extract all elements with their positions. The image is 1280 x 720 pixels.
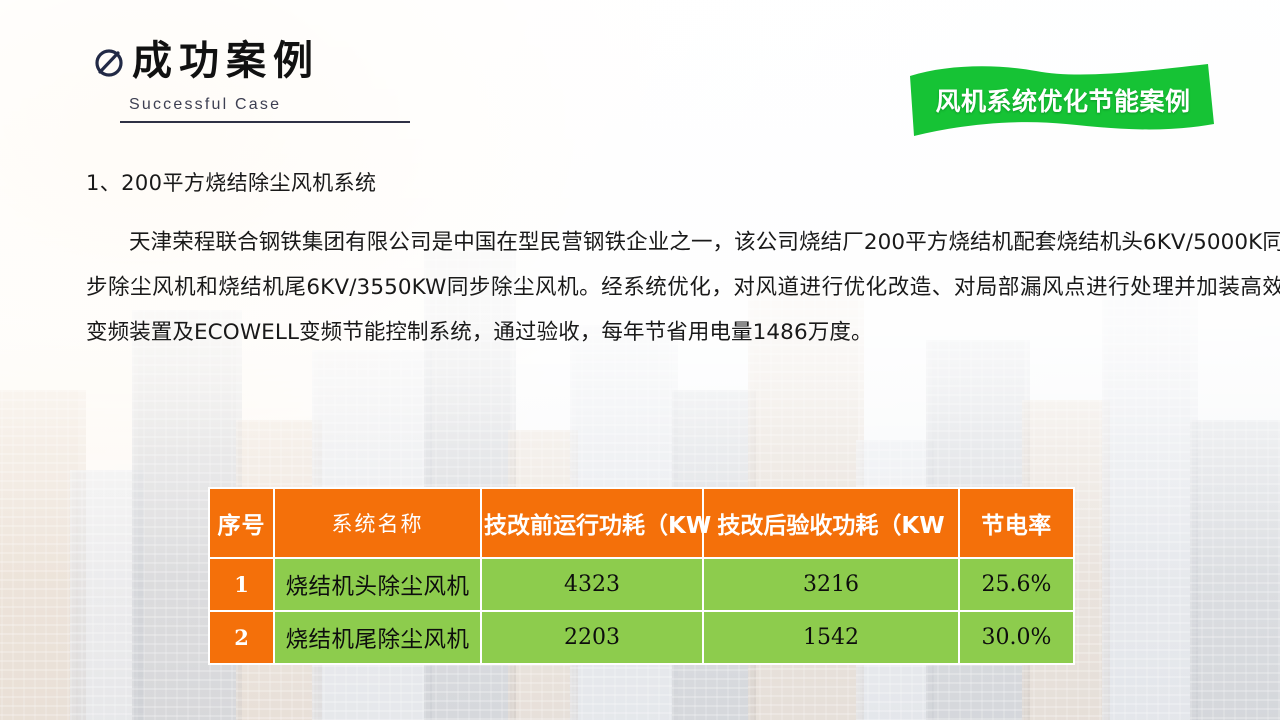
cell-index: 1 <box>209 558 274 611</box>
cell-before: 2203 <box>481 611 703 664</box>
column-header-after: 技改后验收功耗（KW <box>703 488 959 558</box>
column-header-before: 技改前运行功耗（KW <box>481 488 703 558</box>
section-ribbon-banner: 风机系统优化节能案例 <box>908 62 1218 140</box>
title-divider <box>120 121 410 123</box>
section-heading: 1、200平方烧结除尘风机系统 <box>86 168 1280 200</box>
cell-after: 3216 <box>703 558 959 611</box>
cell-saving: 25.6% <box>959 558 1074 611</box>
column-header-saving: 节电率 <box>959 488 1074 558</box>
page-subtitle: Successful Case <box>129 96 422 114</box>
results-table: 序号 系统名称 技改前运行功耗（KW 技改后验收功耗（KW 节电率 1 烧结机头… <box>208 487 1075 665</box>
column-header-name: 系统名称 <box>274 488 481 558</box>
results-table-wrapper: 序号 系统名称 技改前运行功耗（KW 技改后验收功耗（KW 节电率 1 烧结机头… <box>208 487 1073 665</box>
cell-saving: 30.0% <box>959 611 1074 664</box>
table-header-row: 序号 系统名称 技改前运行功耗（KW 技改后验收功耗（KW 节电率 <box>209 488 1074 558</box>
cell-name: 烧结机尾除尘风机 <box>274 611 481 664</box>
slashed-circle-icon <box>92 46 126 80</box>
cell-after: 1542 <box>703 611 959 664</box>
column-header-seq: 序号 <box>209 488 274 558</box>
section-paragraph: 天津荣程联合钢铁集团有限公司是中国在型民营钢铁企业之一，该公司烧结厂200平方烧… <box>86 220 1280 355</box>
page-title: 成功案例 <box>132 40 320 82</box>
table-row: 1 烧结机头除尘风机 4323 3216 25.6% <box>209 558 1074 611</box>
cell-before: 4323 <box>481 558 703 611</box>
ribbon-label: 风机系统优化节能案例 <box>908 82 1218 118</box>
cell-name: 烧结机头除尘风机 <box>274 558 481 611</box>
slide-canvas: 成功案例 Successful Case 风机系统优化节能案例 1、200平方烧… <box>0 0 1280 720</box>
body-text-block: 1、200平方烧结除尘风机系统 天津荣程联合钢铁集团有限公司是中国在型民营钢铁企… <box>86 168 1280 355</box>
cell-index: 2 <box>209 611 274 664</box>
table-row: 2 烧结机尾除尘风机 2203 1542 30.0% <box>209 611 1074 664</box>
page-title-block: 成功案例 Successful Case <box>92 40 422 123</box>
